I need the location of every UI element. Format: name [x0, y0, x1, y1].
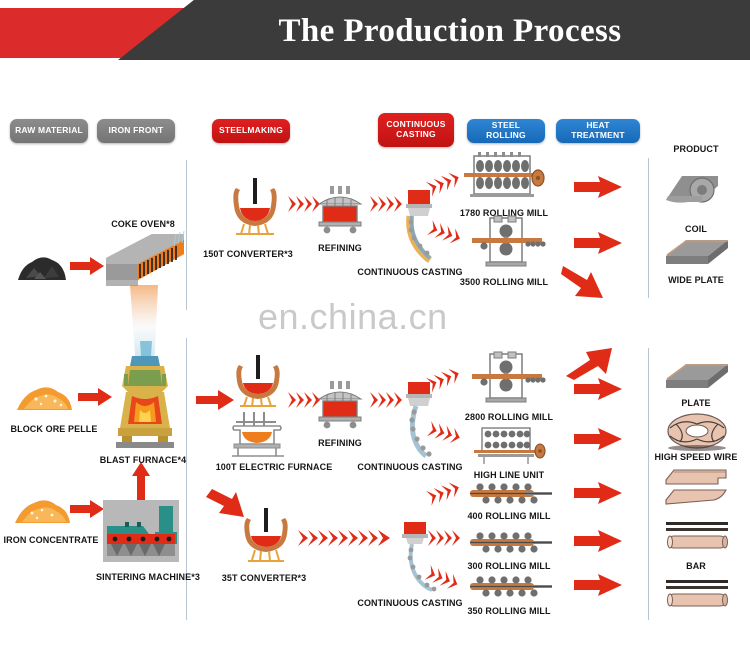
high-line-unit-icon [470, 424, 550, 468]
coil-label: COIL [685, 224, 707, 234]
chevron-casting-to-300 [428, 528, 464, 550]
stage-badge-raw-material[interactable]: RAW MATERIAL [10, 119, 88, 143]
chevron-casting-to-350 [426, 568, 462, 592]
arrow-to-wide-plate-diagonal [560, 262, 610, 302]
coke-oven-icon [104, 228, 188, 290]
blast-furnace-icon [110, 352, 180, 452]
refining-icon-mid [313, 381, 367, 431]
chevron-casting-to-1780 [428, 172, 466, 194]
rolling-mill-350-icon [466, 574, 556, 600]
rolling-mill-300-icon [466, 530, 556, 556]
electric-furnace-100t-label: 100T ELECTRIC FURNACE [216, 462, 333, 472]
converter-35t-label: 35T CONVERTER*3 [222, 573, 307, 583]
plate-product-icon [662, 360, 732, 394]
rolling-mill-400-icon [466, 481, 556, 507]
page-title: The Production Process [170, 6, 730, 56]
coal-pile-icon [14, 252, 70, 282]
arrow-to-coil [574, 176, 622, 198]
arrow-sintering-to-blast-furnace [132, 462, 150, 500]
stage-badge-iron-front[interactable]: IRON FRONT [97, 119, 175, 143]
electric-furnace-100t-icon [228, 410, 288, 458]
bar-label: BAR [686, 561, 706, 571]
section-steel-product-icon [664, 466, 730, 508]
arrow-to-bar-1 [574, 482, 622, 504]
high-speed-wire-label: HIGH SPEED WIRE [654, 452, 737, 462]
continuous-casting-bot-label: CONTINUOUS CASTING [357, 598, 462, 608]
rolling-mill-3500-icon [470, 216, 550, 272]
divider-product-top [648, 158, 649, 298]
rolling-mill-2800-icon [470, 352, 550, 408]
chevron-casting-to-highline [428, 424, 466, 446]
rolling-mill-3500-label: 3500 ROLLING MILL [460, 277, 548, 287]
bar-product-icon-1 [664, 520, 730, 554]
product-column-header: PRODUCT [673, 144, 718, 154]
refining-icon-top [313, 186, 367, 236]
divider-product-bottom [648, 348, 649, 620]
block-ore-pelle-label: BLOCK ORE PELLE [10, 424, 97, 434]
header-banner: The Production Process [0, 0, 750, 68]
rolling-mill-1780-icon [464, 152, 546, 204]
high-line-unit-label: HIGH LINE UNIT [474, 470, 544, 480]
continuous-caster-icon-mid [396, 382, 442, 458]
chevron-casting-to-400 [428, 482, 464, 504]
wide-plate-label: WIDE PLATE [668, 275, 724, 285]
arrow-to-wide-plate [574, 232, 622, 254]
stage-badge-continuous-casting[interactable]: CONTINUOUS CASTING [378, 113, 454, 147]
converter-35t-icon [240, 508, 292, 566]
converter-150t-icon [228, 178, 282, 240]
continuous-casting-top-label: CONTINUOUS CASTING [357, 267, 462, 277]
stage-badge-heat-treatment[interactable]: HEAT TREATMENT [556, 119, 640, 143]
sintering-machine-label: SINTERING MACHINE*3 [96, 572, 200, 582]
arrow-to-high-speed-wire [574, 428, 622, 450]
chevron-converter35-to-casting [298, 528, 390, 548]
coil-product-icon [662, 166, 732, 208]
rolling-mill-2800-label: 2800 ROLLING MILL [465, 412, 553, 422]
rolling-mill-350-label: 350 ROLLING MILL [467, 606, 550, 616]
production-process-diagram: The Production Process RAW MATERIALIRON … [0, 0, 750, 666]
stage-badge-steelmaking[interactable]: STEELMAKING [212, 119, 290, 143]
sintering-machine-icon [103, 500, 179, 562]
iron-concentrate-label: IRON CONCENTRATE [4, 535, 99, 545]
refining-mid-label: REFINING [318, 438, 362, 448]
bar-product-icon-2 [664, 578, 730, 612]
chevron-casting-to-3500 [428, 224, 466, 248]
arrow-to-plate-diagonal [564, 344, 616, 380]
stage-badge-steel-rolling[interactable]: STEEL ROLLING [467, 119, 545, 143]
arrow-to-plate [574, 378, 622, 400]
continuous-casting-mid-label: CONTINUOUS CASTING [357, 462, 462, 472]
arrow-coal-to-coke-oven [70, 257, 104, 275]
watermark: en.china.cn [258, 296, 448, 338]
refining-top-label: REFINING [318, 243, 362, 253]
converter-ladle-mid-icon [232, 355, 284, 411]
iron-concentrate-icon [12, 495, 74, 525]
arrow-to-converter-150t [196, 390, 234, 410]
arrow-ore-to-blast-furnace [78, 388, 112, 406]
wide-plate-product-icon [662, 236, 732, 270]
plate-label: PLATE [681, 398, 710, 408]
chevron-casting-to-2800 [428, 368, 466, 390]
arrow-concentrate-to-sintering [70, 500, 104, 518]
high-speed-wire-product-icon [666, 412, 728, 450]
arrow-to-bar-3 [574, 574, 622, 596]
rolling-mill-300-label: 300 ROLLING MILL [467, 561, 550, 571]
converter-150t-label: 150T CONVERTER*3 [203, 249, 293, 259]
arrow-to-bar-2 [574, 530, 622, 552]
block-ore-pelle-icon [14, 382, 76, 412]
rolling-mill-400-label: 400 ROLLING MILL [467, 511, 550, 521]
